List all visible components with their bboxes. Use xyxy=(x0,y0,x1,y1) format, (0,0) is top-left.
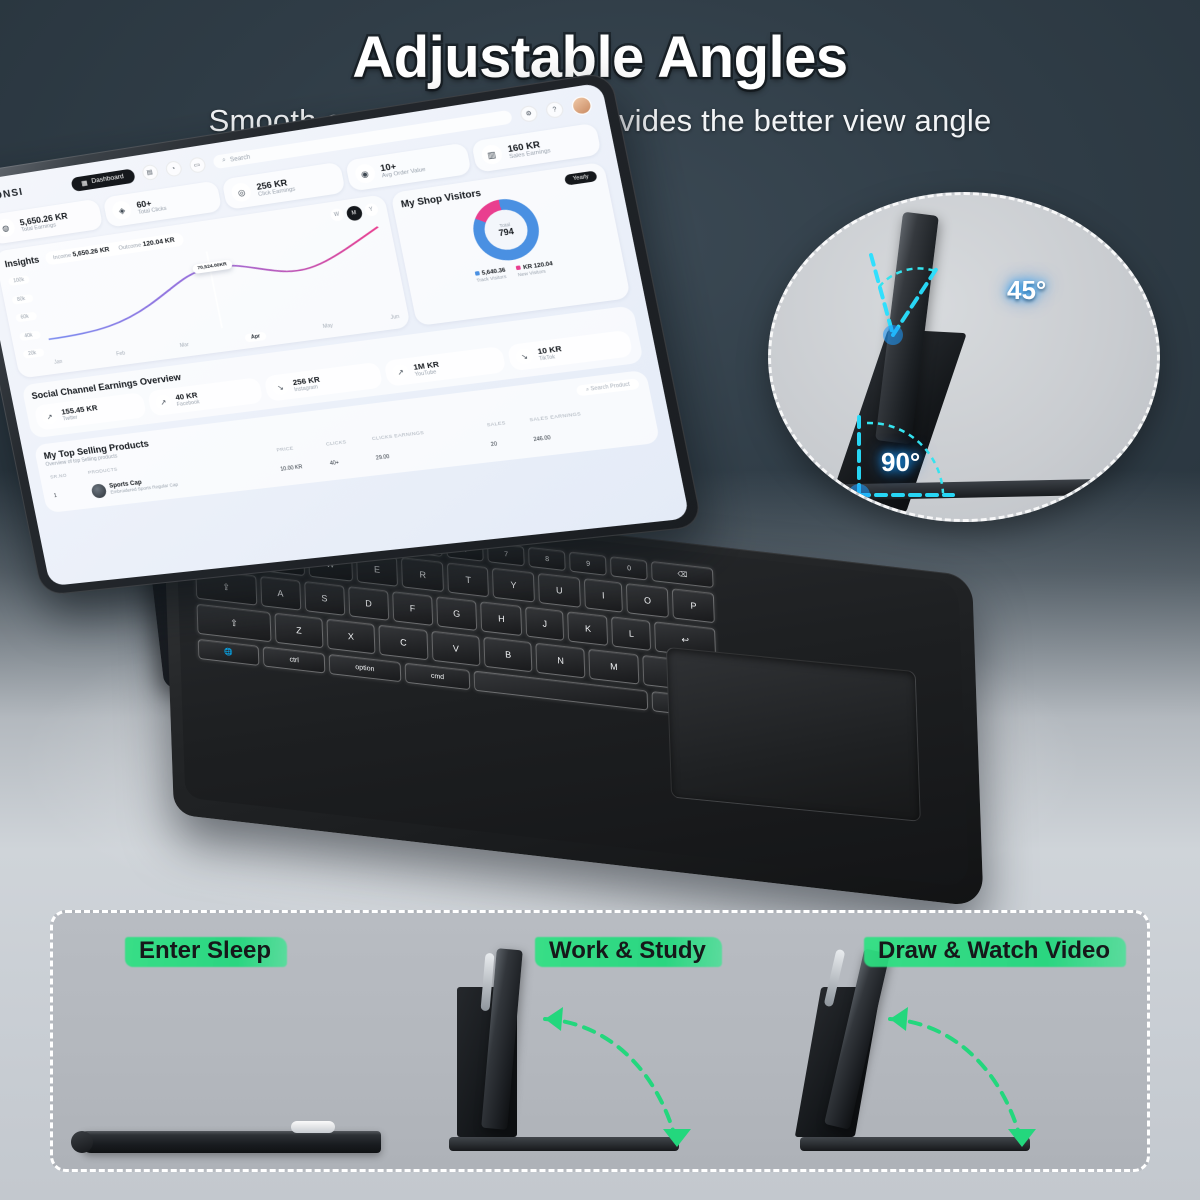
cell-clicks: 40+ xyxy=(328,449,375,471)
help-icon[interactable]: ? xyxy=(545,101,565,119)
stylus xyxy=(291,1121,335,1133)
social-label: Facebook xyxy=(176,399,200,408)
donut-center: Total 794 xyxy=(497,221,515,238)
mode-label-draw: Draw & Watch Video xyxy=(870,935,1118,967)
donut-center-value: 794 xyxy=(498,227,515,238)
legend-item: KR 120.04 New Visitors xyxy=(516,261,555,278)
y-tick: 40k xyxy=(19,330,41,341)
key-c[interactable]: C xyxy=(378,625,428,661)
insights-title: Insights xyxy=(4,254,40,269)
trackpad[interactable] xyxy=(666,647,921,822)
product-infographic: Adjustable Angles Smooth angle adjustmen… xyxy=(0,0,1200,1200)
cart-icon: ◉ xyxy=(353,163,376,184)
key-m[interactable]: M xyxy=(589,649,640,685)
x-tick: Feb xyxy=(116,350,126,359)
grid-icon: ▦ xyxy=(80,178,88,187)
product-thumbnail xyxy=(91,483,108,498)
angle-annotations-svg xyxy=(771,195,1160,522)
nav-dashboard-label: Dashboard xyxy=(91,173,125,185)
key-j[interactable]: J xyxy=(525,606,564,641)
key-9[interactable]: 9 xyxy=(569,552,607,576)
y-tick: 80k xyxy=(11,293,33,304)
rotation-arrow-draw xyxy=(860,997,1100,1167)
key-k[interactable]: K xyxy=(567,611,608,646)
search-icon: ⌕ xyxy=(222,157,227,165)
key-delete[interactable]: ⌫ xyxy=(651,561,713,588)
key-control[interactable]: ctrl xyxy=(263,646,326,673)
trend-down-icon: ↘ xyxy=(271,379,290,396)
y-tick: 100k xyxy=(8,275,30,286)
cell-sales: 20 xyxy=(489,430,533,452)
cell-price: 10.00 KR xyxy=(278,454,329,477)
x-tick: Jan xyxy=(54,359,64,368)
range-selector[interactable]: W M Y xyxy=(329,203,379,224)
x-tick: Jun xyxy=(390,314,400,323)
mode-work-study: Work & Study xyxy=(419,913,786,1169)
key-f[interactable]: F xyxy=(392,591,432,626)
bell-icon[interactable]: ◔ xyxy=(164,160,182,177)
key-u[interactable]: U xyxy=(538,573,581,608)
key-s[interactable]: S xyxy=(304,581,345,616)
x-tick-active: Apr xyxy=(244,332,267,343)
tablet-screen[interactable]: ILONSI ▦ Dashboard ▤ ◔ ▭ ⌕ Search ⚙ xyxy=(0,82,690,586)
trend-up-icon: ↗ xyxy=(391,363,410,380)
globe-icon[interactable]: 🌐 xyxy=(198,639,260,666)
outcome-label: Outcome xyxy=(118,242,142,251)
range-month[interactable]: M xyxy=(345,205,363,222)
key-g[interactable]: G xyxy=(436,596,478,631)
key-r[interactable]: R xyxy=(401,557,444,592)
card-icon[interactable]: ▭ xyxy=(188,156,207,174)
trend-up-icon: ↗ xyxy=(41,408,59,425)
x-tick: Mar xyxy=(179,342,189,351)
income-value: 5,650.26 KR xyxy=(72,246,110,258)
key-0[interactable]: 0 xyxy=(610,556,648,580)
visitors-panel: My Shop Visitors Yearly Total 794 xyxy=(390,162,631,326)
dashboard-app: ILONSI ▦ Dashboard ▤ ◔ ▭ ⌕ Search ⚙ xyxy=(0,82,690,586)
tablet: ILONSI ▦ Dashboard ▤ ◔ ▭ ⌕ Search ⚙ xyxy=(0,71,703,596)
angle-90-label: 90° xyxy=(881,447,920,478)
key-y[interactable]: Y xyxy=(492,568,535,603)
legend-item: 5,640.36 Track Visitors xyxy=(475,267,508,284)
cell-srno: 1 xyxy=(52,482,91,503)
mode-enter-sleep: Enter Sleep xyxy=(53,913,419,1169)
settings-icon[interactable]: ⚙ xyxy=(519,105,539,123)
visitors-donut-chart: Total 794 xyxy=(468,195,545,265)
tablet-closed-flat xyxy=(81,1131,381,1153)
key-l[interactable]: L xyxy=(611,616,651,651)
key-option[interactable]: option xyxy=(329,654,401,682)
trend-up-icon: ↗ xyxy=(154,394,172,411)
key-o[interactable]: O xyxy=(626,583,670,618)
usage-modes-panel: Enter Sleep Work & Study Draw & Watch Vi… xyxy=(50,910,1150,1172)
chart-svg xyxy=(32,222,398,355)
key-v[interactable]: V xyxy=(431,631,480,667)
coins-icon: ◎ xyxy=(230,182,253,203)
key-h[interactable]: H xyxy=(481,601,522,636)
product-search-input[interactable]: ⌕ Search Product xyxy=(576,378,640,396)
income-label: Income xyxy=(52,252,71,261)
mode-label-work: Work & Study xyxy=(541,935,714,967)
cursor-icon: ◈ xyxy=(111,200,133,221)
key-i[interactable]: I xyxy=(584,578,623,613)
key-t[interactable]: T xyxy=(447,562,489,597)
key-x[interactable]: X xyxy=(326,619,375,655)
y-tick: 20k xyxy=(22,348,44,359)
avatar[interactable] xyxy=(570,95,593,116)
rotation-arrow-work xyxy=(515,997,755,1167)
mode-label-sleep: Enter Sleep xyxy=(131,935,279,967)
search-placeholder: Search xyxy=(230,154,251,163)
key-command[interactable]: cmd xyxy=(404,663,470,691)
key-p[interactable]: P xyxy=(672,588,715,623)
key-b[interactable]: B xyxy=(484,637,533,673)
angle-45-label: 45° xyxy=(1007,275,1046,306)
key-shift-left[interactable]: ⇧ xyxy=(196,604,271,643)
y-tick: 60k xyxy=(15,312,37,323)
nav-dashboard-active[interactable]: ▦ Dashboard xyxy=(70,168,136,192)
range-year[interactable]: Y xyxy=(363,203,378,217)
key-a[interactable]: A xyxy=(260,576,301,611)
key-8[interactable]: 8 xyxy=(528,547,566,571)
chart-icon: ▥ xyxy=(480,144,504,166)
outcome-value: 120.04 KR xyxy=(142,236,175,248)
visitors-range-dropdown[interactable]: Yearly xyxy=(564,170,597,185)
key-n[interactable]: N xyxy=(536,643,586,679)
product-search-placeholder: Search Product xyxy=(590,381,630,392)
doc-icon[interactable]: ▤ xyxy=(141,164,159,181)
brand-logo: ILONSI xyxy=(0,187,24,204)
key-z[interactable]: Z xyxy=(274,613,323,649)
donut-legend: 5,640.36 Track Visitors KR 120.04 New Vi… xyxy=(475,261,555,284)
mode-draw-watch: Draw & Watch Video xyxy=(786,913,1150,1169)
range-week[interactable]: W xyxy=(329,208,344,222)
wallet-icon: ◍ xyxy=(0,218,16,238)
key-d[interactable]: D xyxy=(348,586,389,621)
angle-detail-inset: 45° 90° xyxy=(768,192,1160,522)
trend-down-icon: ↘ xyxy=(514,348,534,366)
x-tick: May xyxy=(322,323,334,332)
